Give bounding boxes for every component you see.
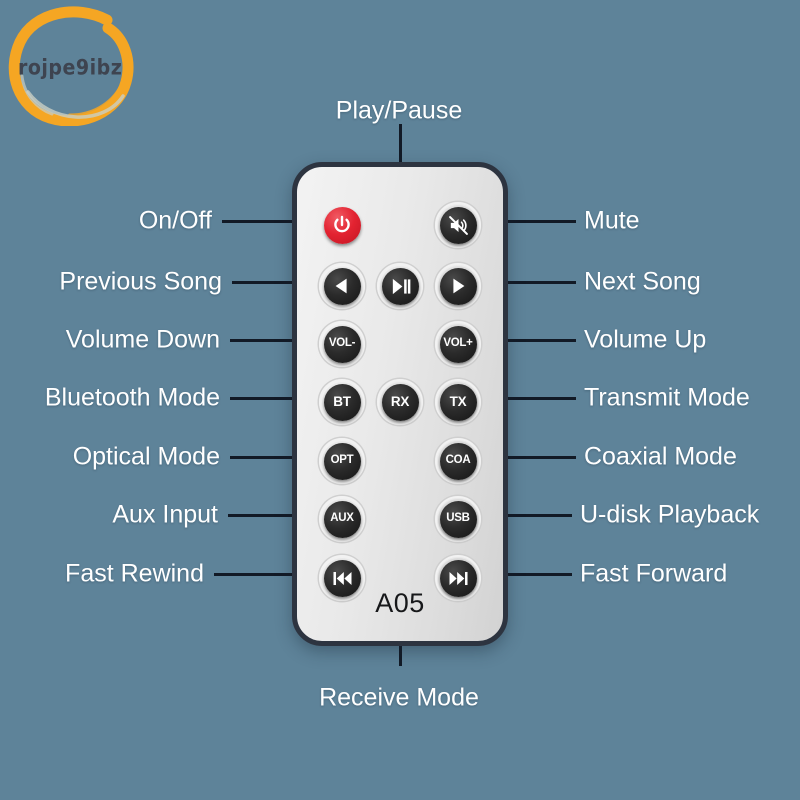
- rx-button[interactable]: RX: [377, 379, 423, 425]
- coa-button-cap: COA: [440, 443, 477, 480]
- callout-label-previous-song: Previous Song: [59, 270, 222, 295]
- volume-up-button-label: VOL+: [443, 338, 472, 350]
- usb-button-cap: USB: [440, 501, 477, 538]
- aux-button-label: AUX: [330, 513, 353, 525]
- volume-up-button-cap: VOL+: [440, 326, 477, 363]
- callout-label-coaxial-mode: Coaxial Mode: [584, 445, 737, 470]
- bt-button-cap: BT: [324, 384, 361, 421]
- volume-down-button[interactable]: VOL-: [319, 321, 365, 367]
- model-label: A05: [297, 588, 503, 619]
- callout-label-play-pause: Play/Pause: [336, 99, 462, 124]
- callout-label-volume-down: Volume Down: [66, 328, 220, 353]
- triangle-right-icon: [447, 275, 469, 297]
- watermark-logo: rojpe9ibz: [4, 4, 154, 126]
- skip-back-icon: [331, 567, 354, 590]
- callout-label-bluetooth-mode: Bluetooth Mode: [45, 386, 220, 411]
- remote-control-body: VOL- VOL+ BT RX TX: [292, 162, 508, 646]
- previous-button[interactable]: [319, 263, 365, 309]
- triangle-left-icon: [331, 275, 353, 297]
- callout-label-aux-input: Aux Input: [112, 503, 218, 528]
- next-button[interactable]: [435, 263, 481, 309]
- volume-down-button-cap: VOL-: [324, 326, 361, 363]
- mute-button-cap: [440, 207, 477, 244]
- speaker-mute-icon: [447, 214, 470, 237]
- callout-label-receive-mode: Receive Mode: [319, 686, 479, 711]
- usb-button[interactable]: USB: [435, 496, 481, 542]
- watermark-text: rojpe9ibz: [18, 56, 122, 81]
- callout-label-transmit-mode: Transmit Mode: [584, 386, 750, 411]
- tx-button-cap: TX: [440, 384, 477, 421]
- callout-label-optical-mode: Optical Mode: [73, 445, 220, 470]
- power-icon: [331, 214, 353, 236]
- play-pause-icon: [389, 275, 412, 298]
- coa-button[interactable]: COA: [435, 438, 481, 484]
- next-button-cap: [440, 268, 477, 305]
- opt-button[interactable]: OPT: [319, 438, 365, 484]
- opt-button-cap: OPT: [324, 443, 361, 480]
- volume-down-button-label: VOL-: [329, 338, 355, 350]
- opt-button-label: OPT: [331, 455, 354, 467]
- callout-label-fast-rewind: Fast Rewind: [65, 562, 204, 587]
- play-pause-button[interactable]: [377, 263, 423, 309]
- callout-label-mute: Mute: [584, 209, 640, 234]
- play-pause-button-cap: [382, 268, 419, 305]
- callout-label-udisk-playback: U-disk Playback: [580, 503, 759, 528]
- callout-label-next-song: Next Song: [584, 270, 701, 295]
- coa-button-label: COA: [446, 455, 471, 467]
- callout-label-on-off: On/Off: [139, 209, 212, 234]
- callout-label-volume-up: Volume Up: [584, 328, 706, 353]
- callout-label-fast-forward: Fast Forward: [580, 562, 727, 587]
- rx-button-cap: RX: [382, 384, 419, 421]
- skip-forward-icon: [447, 567, 470, 590]
- remote-diagram: rojpe9ibz: [0, 0, 800, 800]
- usb-button-label: USB: [446, 513, 469, 525]
- power-button[interactable]: [319, 202, 365, 248]
- aux-button[interactable]: AUX: [319, 496, 365, 542]
- bt-button-label: BT: [333, 395, 350, 409]
- aux-button-cap: AUX: [324, 501, 361, 538]
- power-button-cap: [324, 207, 361, 244]
- tx-button[interactable]: TX: [435, 379, 481, 425]
- mute-button[interactable]: [435, 202, 481, 248]
- rx-button-label: RX: [391, 395, 409, 409]
- tx-button-label: TX: [450, 395, 467, 409]
- volume-up-button[interactable]: VOL+: [435, 321, 481, 367]
- bt-button[interactable]: BT: [319, 379, 365, 425]
- previous-button-cap: [324, 268, 361, 305]
